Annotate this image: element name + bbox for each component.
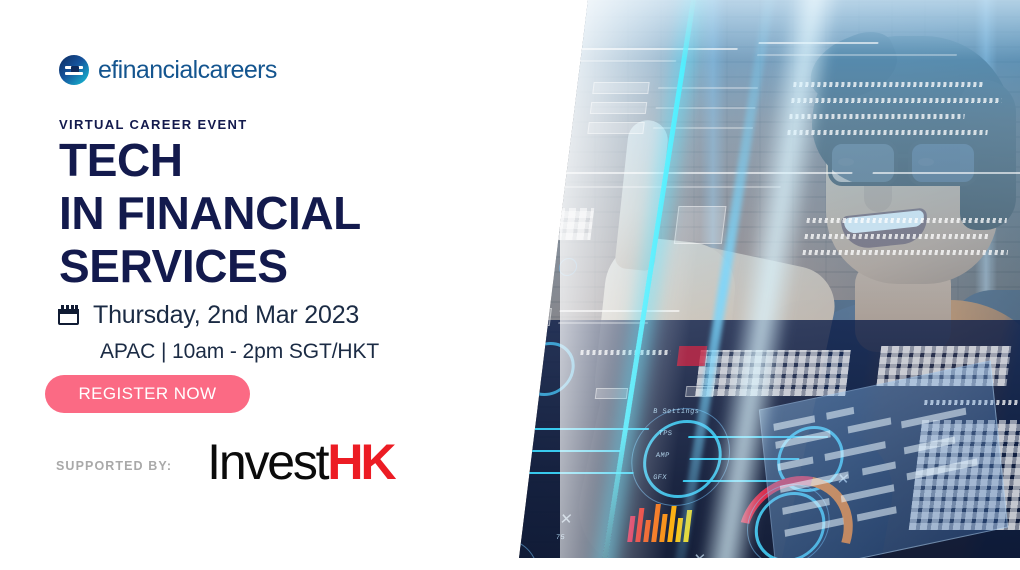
glasses-icon <box>820 140 1006 186</box>
calendar-icon <box>58 305 81 327</box>
event-time-region: APAC | 10am - 2pm SGT/HKT <box>100 340 379 364</box>
register-now-button[interactable]: REGISTER NOW <box>45 375 250 413</box>
investhk-logo-invest: Invest <box>207 434 327 490</box>
title-line-3: SERVICES <box>59 240 361 293</box>
investhk-logo: InvestHK <box>207 437 393 487</box>
title-line-1: TECH <box>59 134 361 187</box>
glasses-lens-right <box>908 140 978 186</box>
page-title: TECH IN FINANCIAL SERVICES <box>59 134 361 293</box>
content-pane: efinancialcareers VIRTUAL CAREER EVENT T… <box>0 0 520 570</box>
event-date-row: Thursday, 2nd Mar 2023 <box>58 303 359 328</box>
event-banner: A Settings TPS AMP GFX B Settings TPS AM… <box>0 0 1020 570</box>
brand-logo[interactable]: efinancialcareers <box>59 55 277 85</box>
investhk-logo-hk: HK <box>327 434 393 490</box>
glasses-bridge <box>896 154 912 158</box>
sponsor-row: SUPPORTED BY: InvestHK <box>56 437 394 487</box>
hand <box>590 234 739 437</box>
efinancialcareers-circle-icon <box>59 55 89 85</box>
brand-logo-text: efinancialcareers <box>98 58 277 83</box>
supported-by-label: SUPPORTED BY: <box>56 451 172 473</box>
title-line-2: IN FINANCIAL <box>59 187 361 240</box>
bottom-white-strip <box>0 558 1020 570</box>
event-eyebrow: VIRTUAL CAREER EVENT <box>59 117 248 132</box>
glasses-lens-left <box>828 140 898 186</box>
event-date: Thursday, 2nd Mar 2023 <box>93 303 359 328</box>
